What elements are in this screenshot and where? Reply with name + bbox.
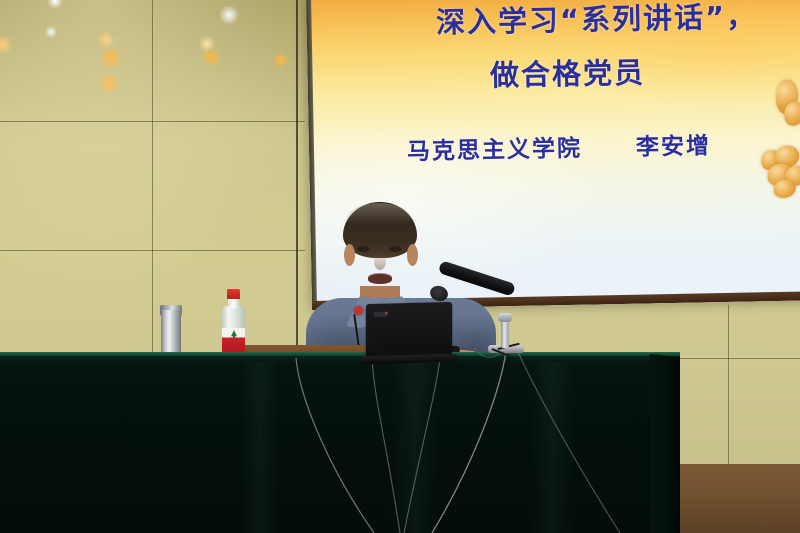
speaker-mouth [368,274,392,284]
microphone-shaft [501,318,509,348]
slide-affiliation: 马克思主义学院 [407,136,582,165]
wall-baseboard [676,464,800,533]
slide-title-line-2: 做合格党员 [307,46,800,98]
speaker-ear-left [344,244,355,266]
wall-seam-horizontal [0,250,305,251]
tablecloth-fold [390,362,440,533]
thermos-flask [161,310,181,358]
water-bottle-cap [227,289,240,299]
tablecloth-fold [530,362,575,533]
table-top-edge [0,352,680,356]
tablecloth-fold [240,362,280,533]
microphone-joint [498,313,512,322]
water-bottle-neck [228,299,239,308]
byline-spacer [592,155,626,156]
wall-seam-vertical [152,0,153,360]
laptop-lid[interactable] [366,302,452,358]
draped-table [0,352,680,533]
slide-title-line-1: 深入学习“系列讲话”， [306,0,800,44]
speaker-ear-right [407,244,418,266]
slide-speaker-name: 李安增 [636,133,711,160]
lapel-microphone [354,306,363,315]
lecture-photo: 深入学习“系列讲话”， 做合格党员 马克思主义学院 李安增 [0,0,800,533]
speaker-brow-left [356,240,374,244]
slide-byline: 马克思主义学院 李安增 [309,124,800,168]
wall-gloss-sheen [0,0,330,300]
laptop-logo-dot-icon [385,312,388,315]
water-bottle [222,289,245,361]
wall-seam-horizontal [0,121,305,122]
wall-seam-vertical [296,0,298,360]
speaker-nose [374,252,386,270]
speaker-eye-left [357,246,370,252]
table-right-face [650,354,680,533]
speaker-brow-right [387,240,405,244]
speaker-eye-right [389,246,402,252]
